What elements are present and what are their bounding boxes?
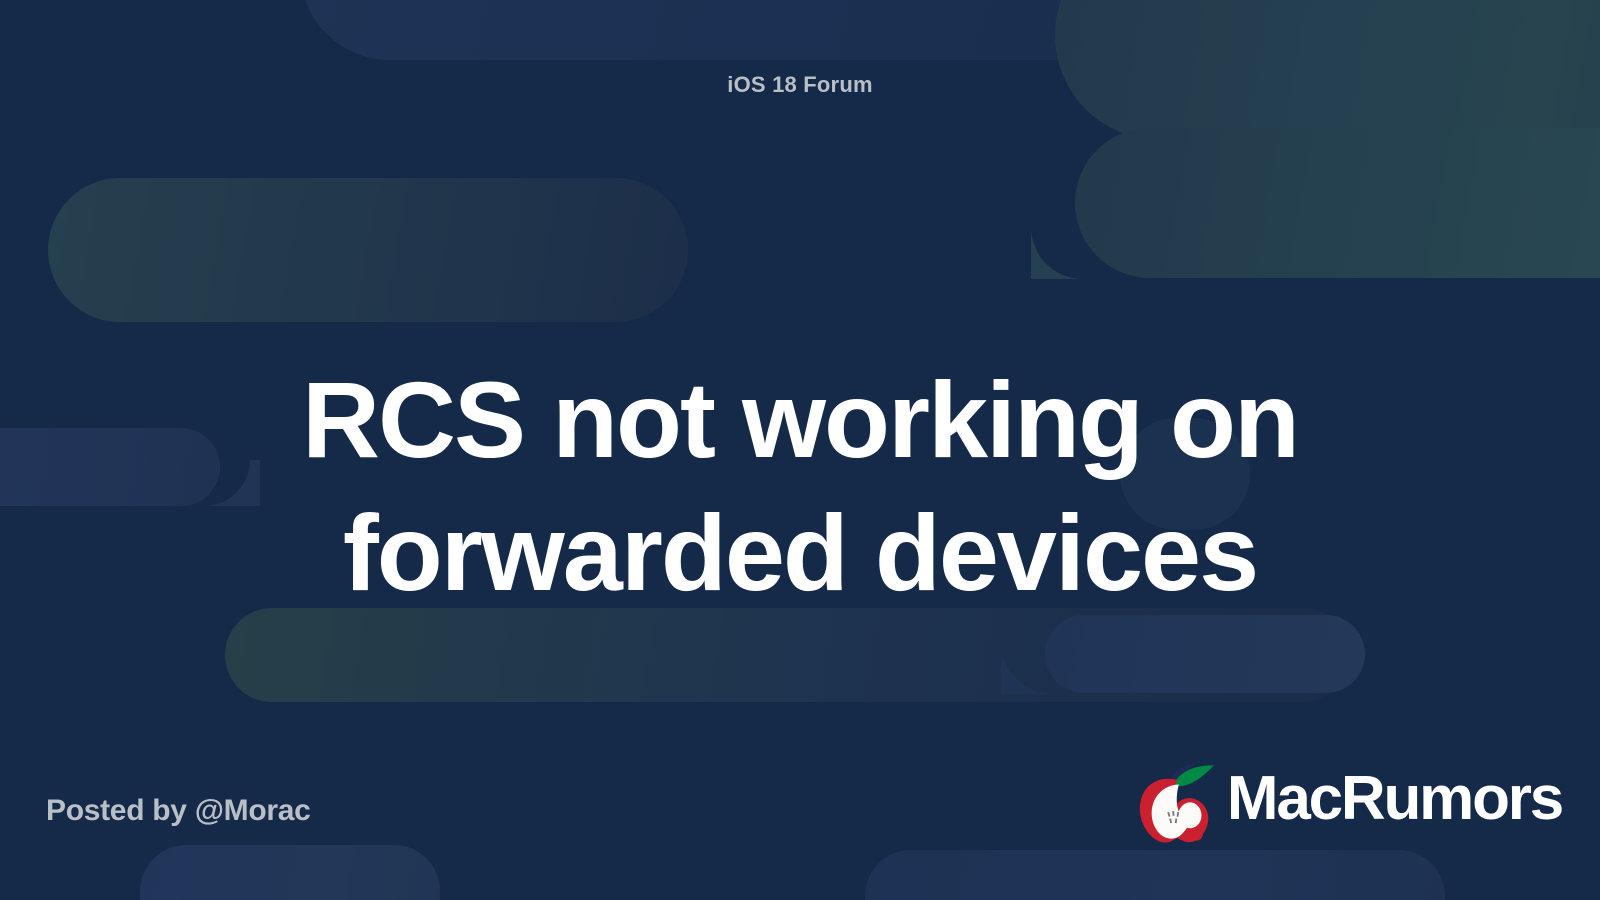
- macrumors-brand-lockup: MacRumors: [1131, 756, 1562, 848]
- macrumors-wordmark: MacRumors: [1227, 768, 1562, 836]
- forum-kicker-label: iOS 18 Forum: [0, 72, 1600, 98]
- page-title-line-2: forwarded devices: [60, 487, 1540, 620]
- page-title-line-1: RCS not working on: [60, 354, 1540, 487]
- macrumors-apple-logo-icon: [1131, 756, 1223, 848]
- author-byline: Posted by @Morac: [46, 794, 311, 828]
- social-share-card: iOS 18 Forum RCS not working on forwarde…: [0, 0, 1600, 900]
- card-content: iOS 18 Forum RCS not working on forwarde…: [0, 0, 1600, 900]
- page-title: RCS not working on forwarded devices: [60, 354, 1540, 620]
